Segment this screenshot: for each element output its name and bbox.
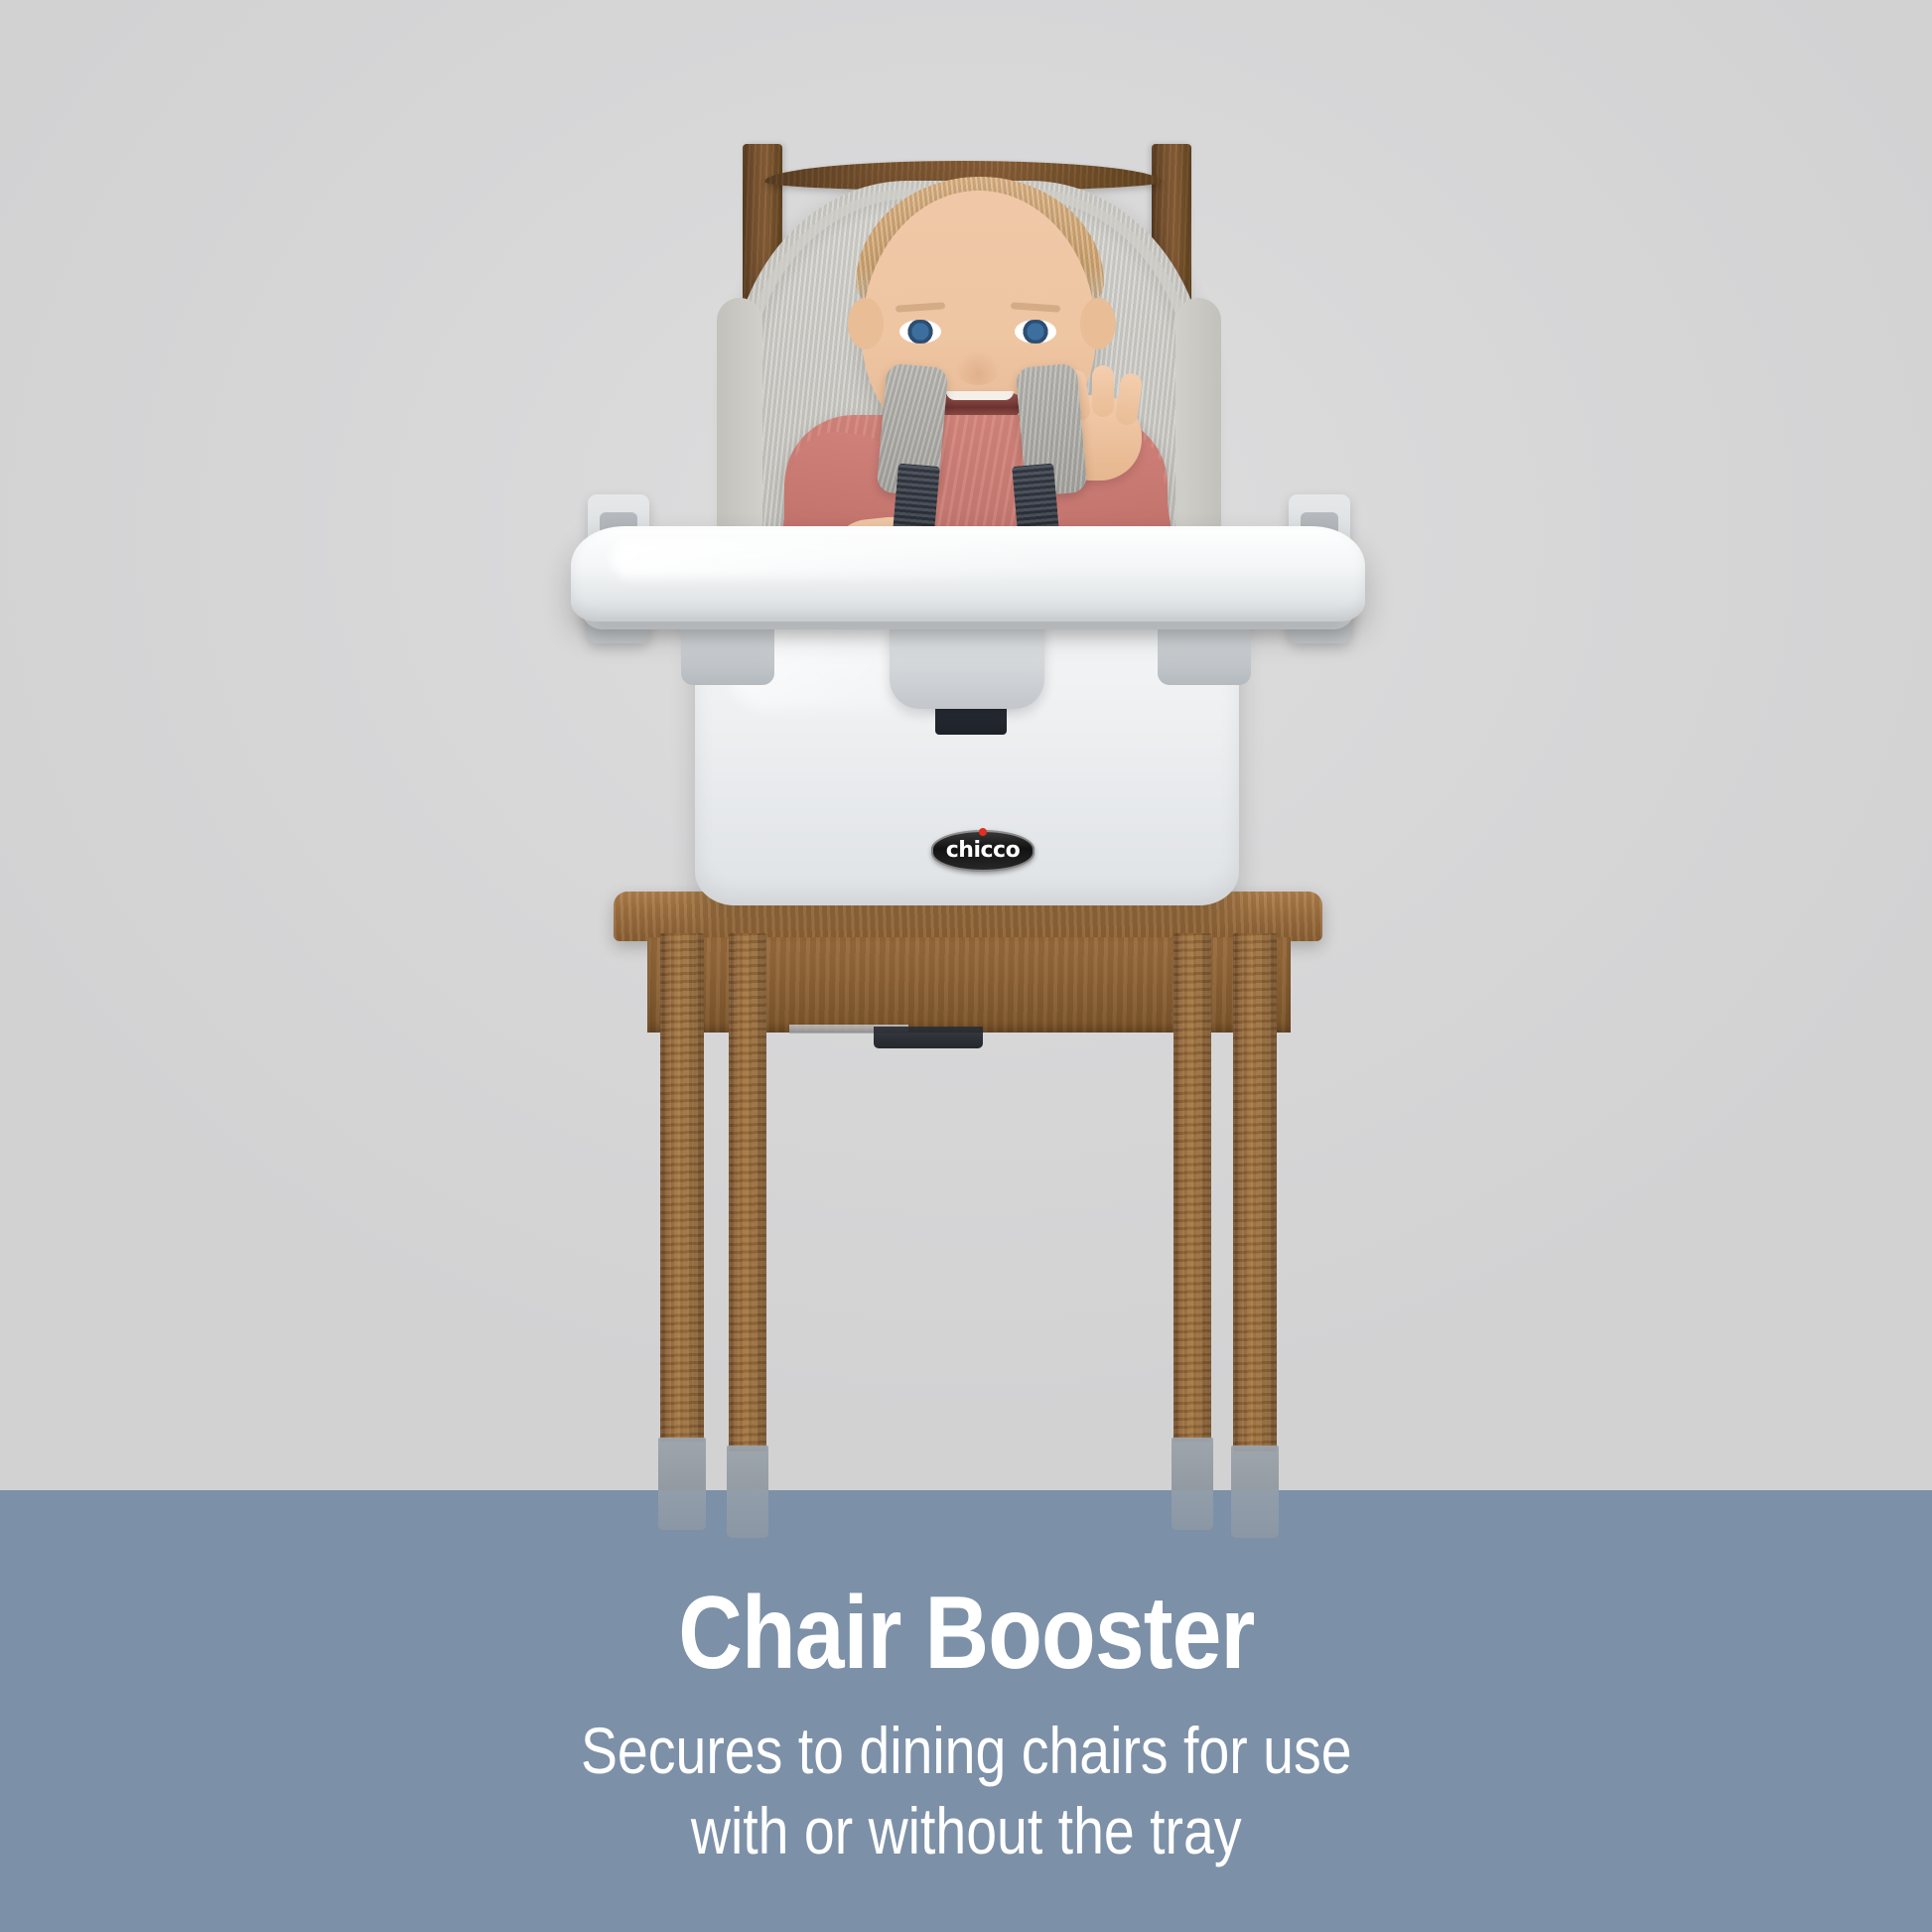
caption-text-block: Chair Booster Secures to dining chairs f… bbox=[0, 1490, 1932, 1932]
booster-tray bbox=[571, 526, 1365, 621]
tray-mount-right bbox=[1158, 623, 1251, 685]
caption-subtitle-line2: with or without the tray bbox=[581, 1791, 1352, 1871]
chair-leg-back-left bbox=[729, 933, 766, 1451]
tray-mount-left bbox=[681, 623, 774, 685]
caption-banner: Chair Booster Secures to dining chairs f… bbox=[0, 1490, 1932, 1932]
chair-leg-front-left bbox=[660, 933, 704, 1442]
baby-finger-2 bbox=[1092, 365, 1114, 417]
caption-subtitle-line1: Secures to dining chairs for use bbox=[581, 1714, 1352, 1787]
baby-ear-right bbox=[1080, 298, 1116, 349]
chair-leg-front-right bbox=[1233, 933, 1277, 1451]
baby-eye-left bbox=[899, 320, 941, 344]
chicco-logo-dot-icon bbox=[979, 828, 987, 836]
baby-eye-right bbox=[1015, 320, 1056, 344]
caption-title: Chair Booster bbox=[678, 1580, 1254, 1687]
product-marketing-image: chicco Chair Booster Secures to dining c… bbox=[0, 0, 1932, 1932]
baby-nose bbox=[955, 349, 1001, 385]
tray-center-support bbox=[890, 623, 1044, 709]
booster-understrap bbox=[874, 1027, 983, 1048]
chicco-logo-badge: chicco bbox=[931, 830, 1035, 872]
baby-ear-left bbox=[848, 298, 884, 349]
baby-finger-3 bbox=[1114, 372, 1143, 427]
caption-subtitle: Secures to dining chairs for use with or… bbox=[581, 1711, 1352, 1870]
chicco-wordmark: chicco bbox=[946, 840, 1020, 862]
chair-leg-back-right bbox=[1173, 933, 1211, 1442]
